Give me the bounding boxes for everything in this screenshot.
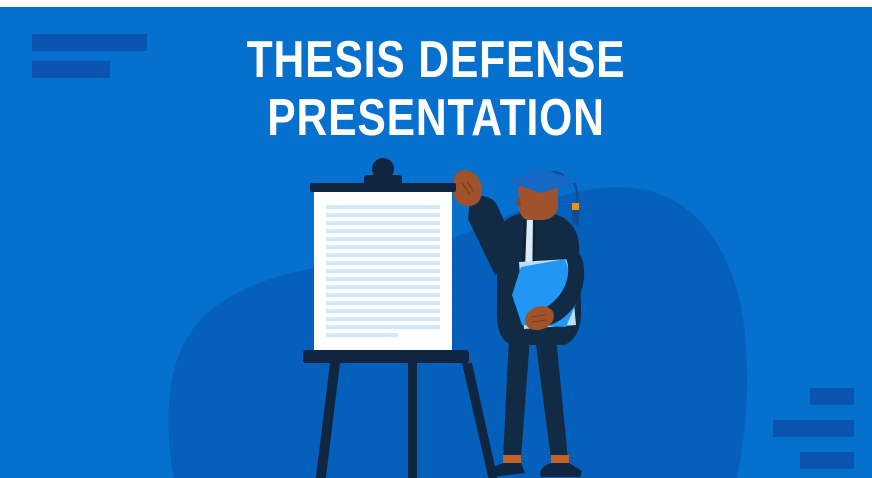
flipchart-last-line [326,333,398,337]
flipchart-knob [364,158,402,187]
person-sock-left [503,455,521,463]
flipchart-text-lines [326,205,440,337]
person-raised-hand [453,170,482,206]
cap-tassel-band [572,203,579,210]
flipchart-top-bar [310,183,456,192]
deco-bar-bottom-right-2 [773,420,854,437]
illustration-graduate-presenting [0,7,872,478]
person-sock-right [551,455,569,463]
deco-bar-top-left-2 [32,61,110,78]
deco-bar-bottom-right-3 [800,452,854,469]
slide-background: THESIS DEFENSE PRESENTATION [0,7,872,478]
deco-bar-top-left-1 [32,34,147,51]
deco-bar-bottom-right-1 [810,388,854,405]
cap-mortarboard [505,168,578,193]
easel-tray-bar [303,350,469,363]
slide-canvas: THESIS DEFENSE PRESENTATION [0,0,872,478]
background-blob-shape [168,187,747,478]
